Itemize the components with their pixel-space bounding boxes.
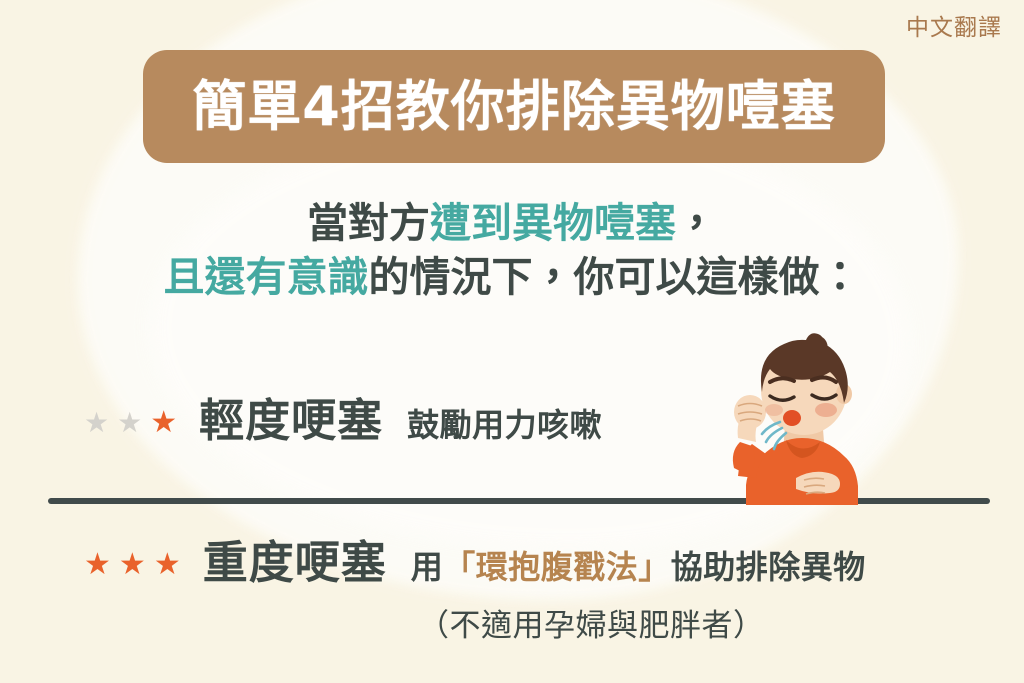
star-icon: ★	[117, 409, 142, 437]
watermark-label: 中文翻譯	[906, 8, 1002, 42]
title-plate: 簡單4招教你排除異物噎塞	[143, 50, 885, 163]
severity-desc-mild-text: 鼓勵用力咳嗽	[407, 406, 602, 444]
subtitle-line-2-plain-end: 的情況下，你可以這樣做：	[369, 253, 861, 301]
star-icon: ★	[150, 408, 177, 438]
severity-desc-severe-highlight: 「環抱腹戳法」	[443, 548, 671, 586]
star-icon: ★	[154, 550, 181, 580]
subtitle-line-1-plain-start: 當對方	[307, 199, 430, 247]
subtitle-line-2-highlight: 且還有意識	[164, 253, 369, 301]
severity-desc-mild: 鼓勵用力咳嗽	[407, 409, 602, 441]
star-icon: ★	[84, 409, 109, 437]
subtitle-line-2: 且還有意識的情況下，你可以這樣做：	[0, 250, 1024, 304]
subtitle-line-1-plain-end: ，	[676, 199, 717, 247]
page-title: 簡單4招教你排除異物噎塞	[192, 80, 836, 134]
severity-row-severe: ★ ★ ★ 重度哽塞 用「環抱腹戳法」協助排除異物	[84, 540, 866, 585]
star-icon: ★	[119, 550, 146, 580]
star-icon: ★	[84, 550, 111, 580]
severity-note-severe: （不適用孕婦與肥胖者）	[418, 600, 765, 645]
severity-desc-severe-end: 協助排除異物	[671, 548, 866, 586]
subtitle-line-1: 當對方遭到異物噎塞，	[0, 196, 1024, 250]
subtitle-line-1-highlight: 遭到異物噎塞	[430, 199, 676, 247]
severity-label-severe: 重度哽塞	[203, 540, 387, 585]
severity-desc-severe: 用「環抱腹戳法」協助排除異物	[411, 551, 866, 583]
infographic-poster: 中文翻譯 簡單4招教你排除異物噎塞 當對方遭到異物噎塞， 且還有意識的情況下，你…	[0, 0, 1024, 683]
rating-stars-mild: ★ ★ ★	[84, 408, 177, 438]
severity-row-mild: ★ ★ ★ 輕度哽塞 鼓勵用力咳嗽	[84, 398, 602, 443]
coughing-boy-illustration	[700, 330, 900, 505]
subtitle-block: 當對方遭到異物噎塞， 且還有意識的情況下，你可以這樣做：	[0, 196, 1024, 304]
severity-desc-severe-start: 用	[411, 548, 444, 586]
rating-stars-severe: ★ ★ ★	[84, 550, 181, 580]
severity-label-mild: 輕度哽塞	[199, 398, 383, 443]
